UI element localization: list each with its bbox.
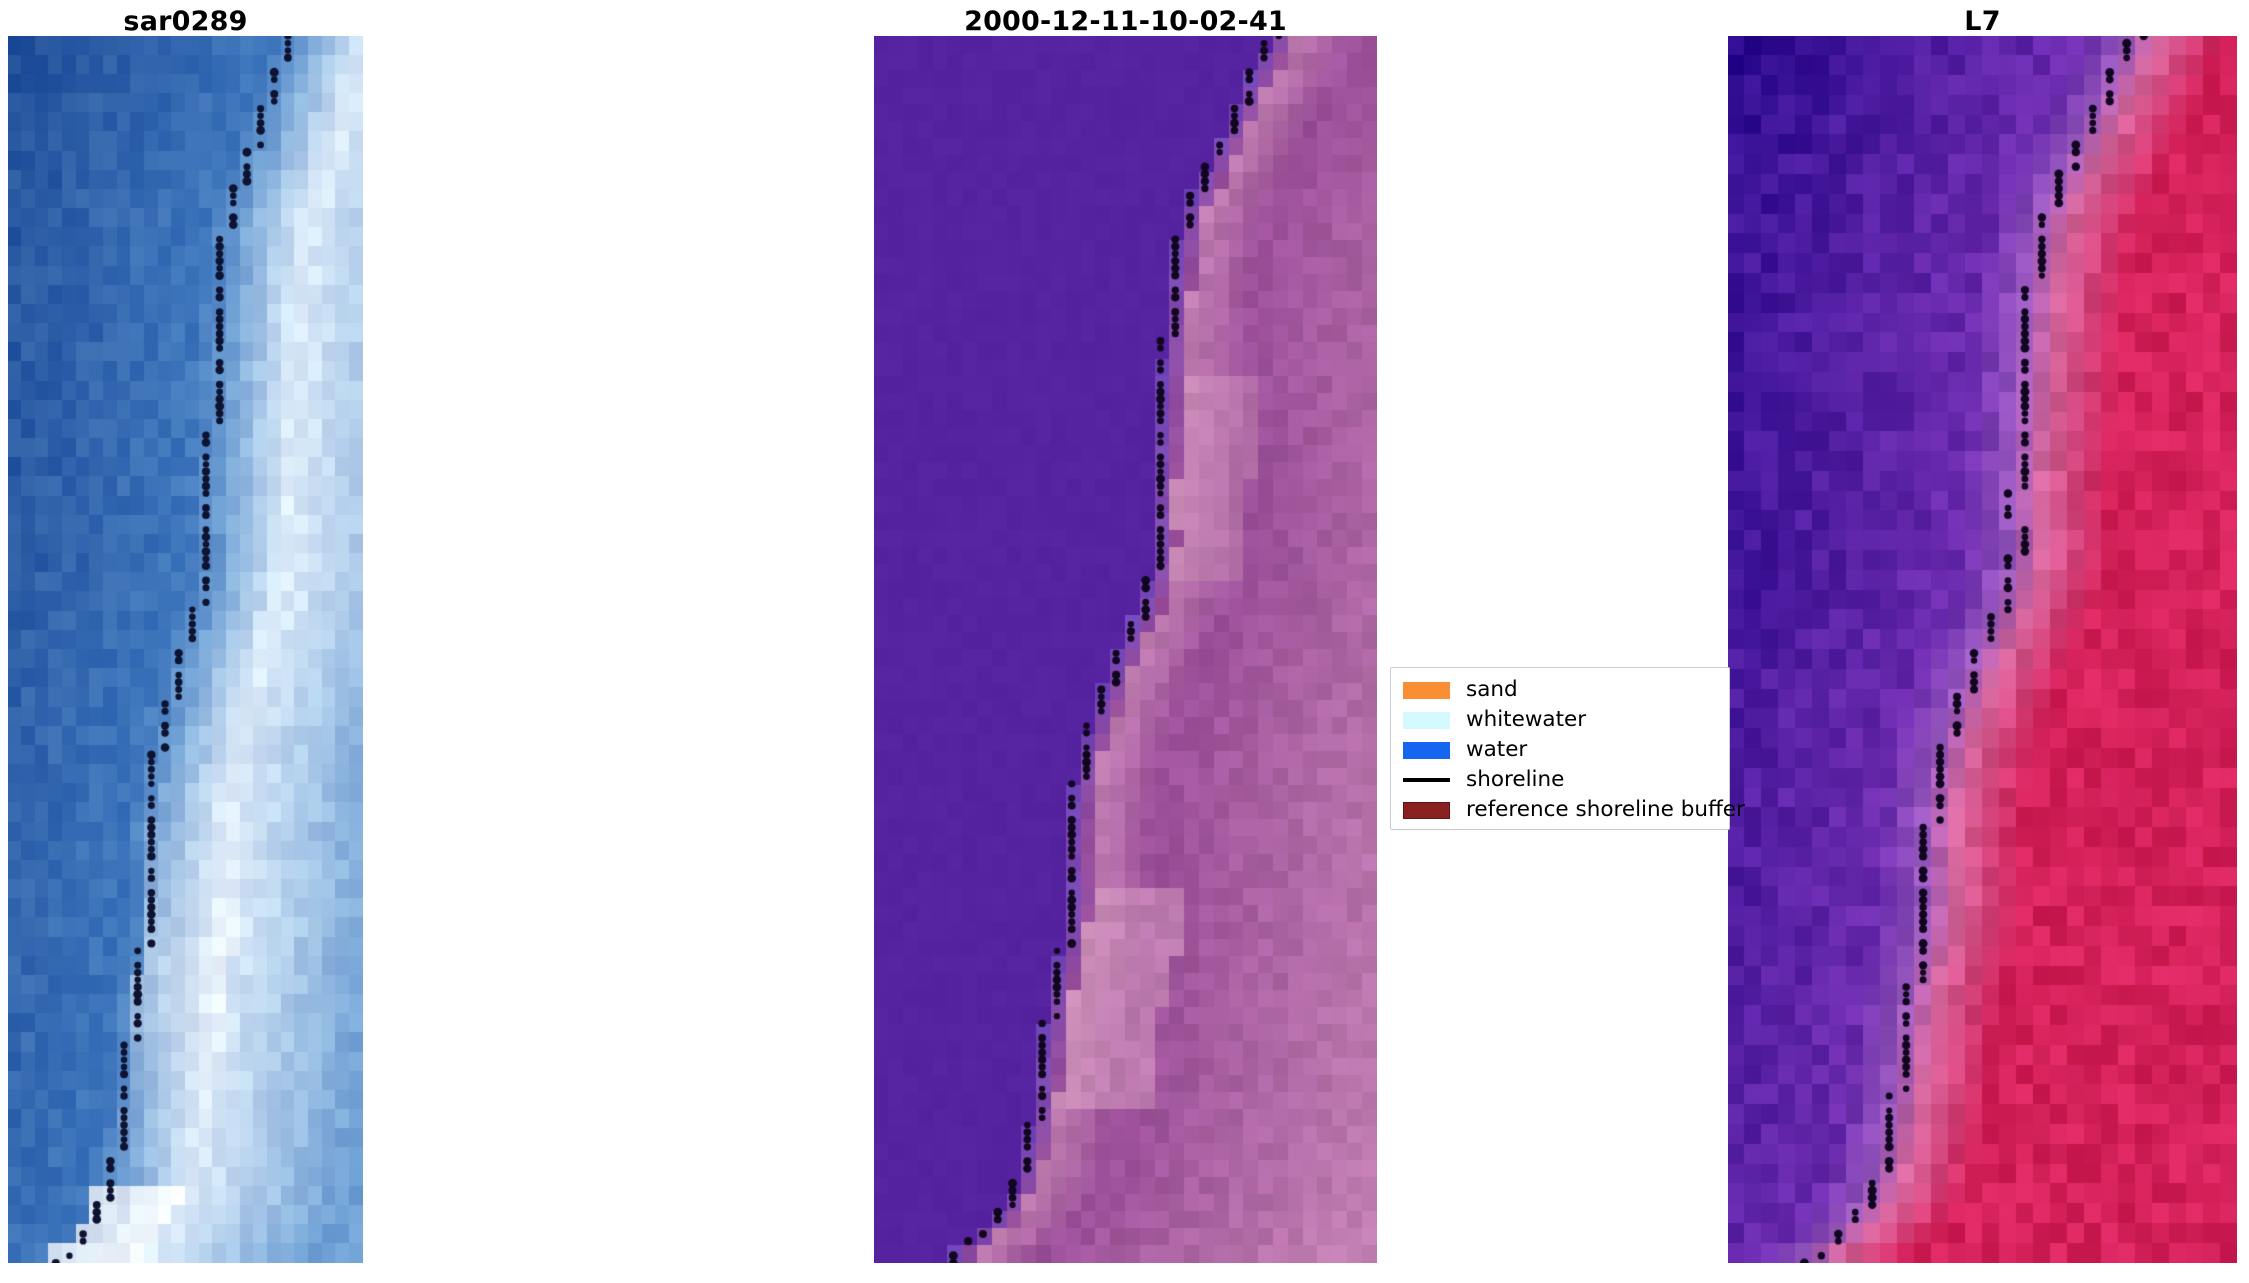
classified-raster-image bbox=[874, 36, 1377, 1263]
legend-item-water: water bbox=[1391, 735, 1729, 765]
legend-item-sand: sand bbox=[1391, 675, 1729, 705]
legend-item-reference-buffer: reference shoreline buffer bbox=[1391, 795, 1729, 825]
legend: sand whitewater water shoreline referenc… bbox=[1390, 667, 1730, 830]
sar-panel[interactable] bbox=[8, 36, 363, 1263]
legend-label-water: water bbox=[1466, 739, 1527, 761]
sand-swatch-icon bbox=[1403, 682, 1450, 699]
l7-raster-image bbox=[1728, 36, 2237, 1263]
panel-title-classified: 2000-12-11-10-02-41 bbox=[874, 6, 1377, 37]
l7-panel[interactable] bbox=[1728, 36, 2237, 1263]
legend-item-whitewater: whitewater bbox=[1391, 705, 1729, 735]
sar-raster-image bbox=[8, 36, 363, 1263]
legend-item-shoreline: shoreline bbox=[1391, 765, 1729, 795]
classified-panel[interactable] bbox=[874, 36, 1377, 1263]
legend-label-whitewater: whitewater bbox=[1466, 709, 1586, 731]
figure-root: sar0289 2000-12-11-10-02-41 L7 sand whit… bbox=[0, 0, 2249, 1283]
water-swatch-icon bbox=[1403, 742, 1450, 759]
reference-buffer-swatch-icon bbox=[1403, 802, 1450, 819]
legend-label-shoreline: shoreline bbox=[1466, 769, 1564, 791]
panel-title-l7: L7 bbox=[1728, 6, 2237, 37]
shoreline-line-icon bbox=[1403, 778, 1450, 782]
legend-label-reference-buffer: reference shoreline buffer bbox=[1466, 799, 1745, 821]
whitewater-swatch-icon bbox=[1403, 712, 1450, 729]
panel-title-sar: sar0289 bbox=[8, 6, 363, 37]
legend-label-sand: sand bbox=[1466, 679, 1518, 701]
